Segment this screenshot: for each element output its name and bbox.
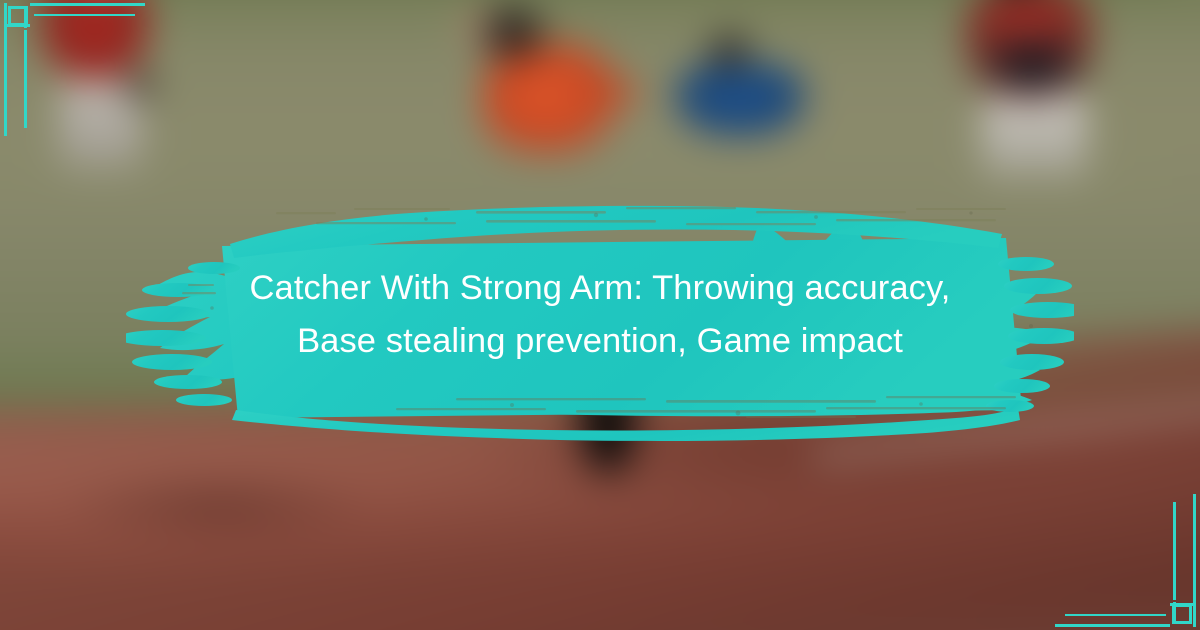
player-blue-jersey [672,64,808,138]
title-banner: Catcher With Strong Arm: Throwing accura… [126,186,1074,444]
field-shadow [59,469,377,543]
player-center-helmet [473,0,549,66]
player-right-pants [982,87,1088,189]
player-blue-head [704,29,755,76]
title-text-block: Catcher With Strong Arm: Throwing accura… [126,186,1074,444]
player-left-glove [118,66,160,106]
poster-canvas: Catcher With Strong Arm: Throwing accura… [0,0,1200,630]
title-line-1: Catcher With Strong Arm: Throwing accura… [250,262,951,315]
player-center-arm [579,74,645,110]
title-line-2: Base stealing prevention, Game impact [297,315,903,368]
player-right-torso-shadow [977,30,1087,100]
